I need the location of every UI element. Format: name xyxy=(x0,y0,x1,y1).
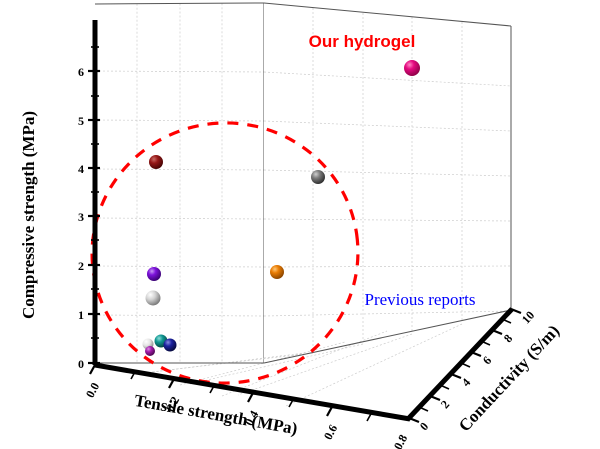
y-tick-0: 0 xyxy=(417,419,431,433)
plot-canvas: 0 1 2 3 4 5 6 Compressive strength (MPa) xyxy=(0,0,600,449)
x-tick-0: 0.0 xyxy=(83,380,102,400)
y-tick-3: 6 xyxy=(480,353,494,367)
z-tick-3: 3 xyxy=(78,210,84,224)
z-tick-6: 6 xyxy=(78,65,84,79)
axis-z: 0 1 2 3 4 5 6 Compressive strength (MPa) xyxy=(19,20,100,371)
data-point-magenta-small[interactable] xyxy=(145,346,155,356)
data-point-our-hydrogel[interactable] xyxy=(404,60,420,76)
data-point-dark-red[interactable] xyxy=(149,155,163,169)
x-tick-3: 0.6 xyxy=(321,422,340,442)
z-tick-4: 4 xyxy=(78,162,84,176)
z-tick-0: 0 xyxy=(78,357,84,371)
z-tick-2: 2 xyxy=(78,259,84,273)
data-point-orange[interactable] xyxy=(270,265,284,279)
figure-3d-scatter: 0 1 2 3 4 5 6 Compressive strength (MPa) xyxy=(0,0,600,449)
y-tick-1: 2 xyxy=(438,397,452,411)
z-tick-1: 1 xyxy=(78,308,84,322)
axis-z-title: Compressive strength (MPa) xyxy=(19,111,38,319)
y-tick-5: 10 xyxy=(519,308,537,326)
data-point-silver[interactable] xyxy=(146,291,161,306)
z-tick-5: 5 xyxy=(78,114,84,128)
x-tick-4: 0.8 xyxy=(391,432,410,449)
data-point-purple[interactable] xyxy=(147,267,161,281)
data-point-gray[interactable] xyxy=(311,170,325,184)
wall-left xyxy=(95,3,264,363)
annotation-previous-reports: Previous reports xyxy=(365,290,476,309)
axis-z-tick-labels: 0 1 2 3 4 5 6 xyxy=(78,65,84,371)
y-tick-2: 4 xyxy=(459,375,473,389)
annotation-our-hydrogel: Our hydrogel xyxy=(309,32,416,51)
data-point-navy[interactable] xyxy=(164,339,177,352)
wall-right xyxy=(264,3,511,363)
y-tick-4: 8 xyxy=(501,331,515,345)
